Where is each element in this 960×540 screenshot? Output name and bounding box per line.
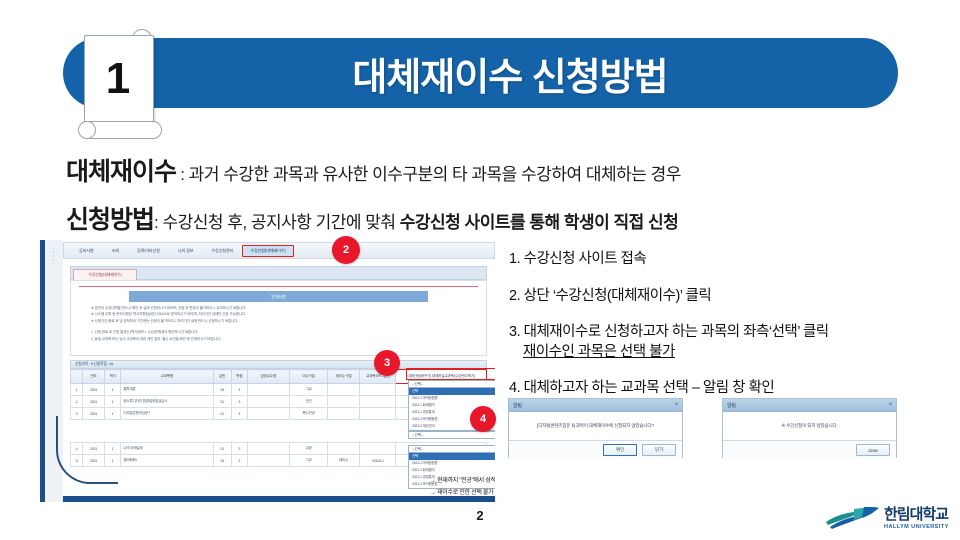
callout-curve-line [56, 416, 118, 484]
th-course-type: 이수구분 [289, 370, 327, 384]
cell-course-name: 영어회화Ⅰ [121, 455, 213, 467]
cell-professor [247, 455, 289, 467]
option-label: 2021-1 회계원리 [412, 403, 435, 408]
university-logo: 한림대학교 HALLYM UNIVERSITY [824, 506, 950, 538]
list-item: 4. 대체하고자 하는 교과목 선택 – 알림 창 확인 [509, 379, 909, 399]
cell-retake-type [328, 384, 360, 396]
tab-substitute-retake[interactable]: 수강신청(대체재이수) [73, 269, 137, 281]
nav-item-my-info[interactable]: 나의 정보 [169, 248, 203, 254]
nav-item-notice[interactable]: 공지사항 [70, 248, 103, 254]
cell-course-type: 기교 [289, 384, 327, 396]
definition-text: : 과거 수강한 과목과 유사한 이수구분의 타 과목을 수강하여 대체하는 경… [176, 165, 681, 184]
cell-credit: 3 [231, 408, 247, 420]
cell-division: 05 [213, 384, 231, 396]
cell-course-type: 전선 [289, 396, 327, 408]
cell-professor [247, 408, 289, 420]
cell-term: 1 [105, 396, 121, 408]
step-text: 4. 대체하고자 하는 교과목 선택 – 알림 창 확인 [509, 380, 774, 396]
cell-course-type: 교양 [289, 443, 327, 455]
dialog-footer: 확인 닫기 [509, 440, 682, 459]
close-icon[interactable]: × [889, 402, 892, 408]
rail-placeholder-text: ▪▪▪▪ [53, 246, 63, 262]
logo-text-block: 한림대학교 HALLYM UNIVERSITY [884, 507, 949, 531]
cell-credit: 3 [231, 396, 247, 408]
notice-line: ※ 신청기간 종료 후 및 성적처리 기간에는 신청이 불가하오니 처리기간 내… [91, 318, 472, 324]
embedded-screenshot: ▪▪▪▪ 공지사항 조회 등록/기타신청 나의 정보 수강신청관리 수강신청(대… [40, 240, 495, 502]
dropdown-option[interactable]: 선택 [409, 453, 495, 460]
substitute-dropdown-1[interactable]: --선택-- [408, 380, 495, 388]
th-credit: 학점 [231, 370, 247, 384]
dialog-message: ※ 수강신청이 되지 않았습니다. [723, 412, 896, 440]
nav-item-substitute-retake[interactable]: 수강신청(대체재이수) [242, 245, 293, 257]
cell-credit: 3 [231, 384, 247, 396]
option-label: 2021-2 조직행동론 [412, 417, 438, 422]
step-subnote: 재이수인 과목은 선택 불가 [523, 343, 909, 363]
list-item: 3. 대체재이수로 신청하고자 하는 과목의 좌측‘선택’ 클릭 재이수인 과목… [509, 323, 909, 362]
substitute-dropdown-2[interactable]: --선택-- [408, 431, 495, 439]
method-term: 신청방법 [66, 206, 154, 234]
cell-course-code [360, 443, 396, 455]
step-text: 1. 수강신청 사이트 접속 [509, 251, 646, 267]
logo-english-name: HALLYM UNIVERSITY [884, 523, 949, 531]
cell-year: 2021 [83, 396, 105, 408]
notice-panel: 안내사항 ※ 본인의 수강내역을 반드시 확인 후 실제 신청하시기 바라며, … [70, 280, 487, 356]
notice-line: 2. 동일 교과목 또는 유사 교과목이 여러 개인 경우, 필수 요건을 확인… [91, 336, 472, 342]
cell-course-name: 나의 미래설계 [121, 443, 213, 455]
th-retake-type: 재이수 구분 [328, 370, 360, 384]
cell-professor [247, 396, 289, 408]
dropdown-option[interactable]: 2021-1 마케팅원론 (전공) 3학점 [409, 395, 495, 402]
cell-division: 03 [213, 455, 231, 467]
cell-rownum: 1 [71, 384, 83, 396]
cell-retake-type [328, 396, 360, 408]
cell-credit: 3 [231, 455, 247, 467]
cell-professor [247, 384, 289, 396]
cell-course-code [360, 384, 396, 396]
substitute-dropdown-group-2: --선택-- [408, 431, 495, 439]
alert-dialog-1: 알림 × [디지털콘텐츠입문 Ⅱ] 과목이 대체재이수에 신청되지 않았습니다?… [508, 398, 683, 458]
dialog-title-text: 알림 [513, 402, 522, 409]
dropdown-option[interactable]: 2021-1 회계원리 (전공) 3학점 [409, 467, 495, 474]
definition-term: 대체재이수 [66, 158, 176, 186]
th-professor: 담당교수명 [247, 370, 289, 384]
page-number: 2 [0, 508, 960, 523]
cell-course-type: 기교 [289, 455, 327, 467]
dialog-footer: close [723, 440, 896, 459]
slide-root: 대체재이수 신청방법 1 대체재이수 : 과거 수강한 과목과 유사한 이수구분… [0, 0, 960, 540]
th-division: 분반 [213, 370, 231, 384]
method-line: 신청방법: 수강신청 후, 공지사항 기간에 맞춰 수강신청 사이트를 통해 학… [66, 200, 678, 236]
dialog-message: [디지털콘텐츠입문 Ⅱ] 과목이 대체재이수에 신청되지 않았습니다? [509, 412, 682, 440]
confirm-button[interactable]: 확인 [603, 444, 637, 456]
notice-panel-header: 안내사항 [129, 291, 428, 302]
close-button[interactable]: 닫기 [642, 444, 676, 456]
instruction-list: 1. 수강신청 사이트 접속 2. 상단 ‘수강신청(대체재이수)’ 클릭 3.… [509, 250, 909, 416]
list-item: 1. 수강신청 사이트 접속 [509, 250, 909, 270]
th-year: 년도 [83, 370, 105, 384]
option-label: 2021-1 마케팅원론 [412, 396, 438, 401]
cell-year: 2021 [83, 384, 105, 396]
nav-item-course-management[interactable]: 수강신청관리 [202, 248, 242, 254]
nav-item-inquiry[interactable]: 조회 [103, 248, 128, 254]
method-text-emphasis: 수강신청 사이트를 통해 학생이 직접 신청 [400, 213, 679, 232]
scroll-roll-bottom-cap-icon [78, 121, 96, 139]
app-tab-strip: 수강신청(대체재이수) [70, 266, 487, 280]
annotation-retake-block: → 재이수로 인한 선택 불가 [430, 487, 493, 496]
screenshot-bottom-bar [63, 496, 495, 502]
option-label: 선택 [412, 389, 418, 394]
option-label: 2021-1 회계원리 [412, 468, 435, 473]
definition-line: 대체재이수 : 과거 수강한 과목과 유사한 이수구분의 타 과목을 수강하여 … [66, 152, 681, 188]
step-text: 2. 상단 ‘수강신청(대체재이수)’ 클릭 [509, 288, 711, 304]
cell-rownum: 2 [71, 396, 83, 408]
step-text: 3. 대체재이수로 신청하고자 하는 과목의 좌측‘선택’ 클릭 [509, 324, 829, 340]
dialog-titlebar: 알림 × [509, 399, 682, 412]
close-button[interactable]: close [856, 444, 890, 456]
annotation-major-grade: → 현재까지 "전공"에서 성적이 C+이하가 없는 경우 [430, 475, 495, 484]
cell-course-type: 복수전공 [289, 408, 327, 420]
cell-retake-type: 재이수 [328, 455, 360, 467]
cell-course-name: 철학개론 [121, 384, 213, 396]
option-label: 2021-2 재무관리 [412, 424, 435, 429]
option-label: 선택 [412, 454, 418, 459]
th-course-name: 교과목명 [121, 370, 213, 384]
method-text: : 수강신청 후, 공지사항 기간에 맞춰 [154, 213, 400, 232]
option-label: 2021-1 마케팅원론 [412, 461, 438, 466]
dropdown-option[interactable]: 선택 [409, 388, 495, 395]
option-label: 2021-1 경영통계 [412, 410, 435, 415]
cell-retake-type [328, 408, 360, 420]
cell-credit: 3 [231, 443, 247, 455]
dialog-titlebar: 알림 × [723, 399, 896, 412]
alert-dialog-2: 알림 × ※ 수강신청이 되지 않았습니다. close [722, 398, 897, 458]
scroll-paper-icon: 1 [76, 29, 160, 139]
cell-term: 1 [105, 384, 121, 396]
cell-course-name: 디지털콘텐츠입문 Ⅰ [121, 408, 213, 420]
cell-division: 01 [213, 443, 231, 455]
page-title: 대체재이수 신청방법 [210, 38, 810, 108]
hallym-wave-icon [824, 506, 880, 532]
substitute-dropdown-3[interactable]: --선택-- [408, 445, 495, 453]
cell-course-code [360, 396, 396, 408]
cell-course-name: 컴스튜디자인 환경설정및실습 Ⅱ [121, 396, 213, 408]
notice-text-block: ※ 본인의 수강내역을 반드시 확인 후 실제 신청하시기 바라며, 신청 후 … [91, 305, 472, 342]
callout-badge-2: 2 [332, 236, 360, 264]
th-term: 학기 [105, 370, 121, 384]
logo-korean-name: 한림대학교 [884, 507, 949, 523]
callout-badge-4: 4 [470, 406, 496, 432]
list-item: 2. 상단 ‘수강신청(대체재이수)’ 클릭 [509, 287, 909, 307]
slide-number-badge: 1 [84, 39, 152, 119]
select-column-highlight-box [406, 368, 495, 380]
cell-professor [247, 443, 289, 455]
dropdown-option[interactable]: 2021-1 마케팅원론 (전공) 3학점 [409, 460, 495, 467]
cell-course-code: 00104-1 [360, 455, 396, 467]
panel-divider [79, 286, 478, 287]
cell-retake-type [328, 443, 360, 455]
cell-course-code [360, 408, 396, 420]
cell-division: 01 [213, 396, 231, 408]
dialog-title-text: 알림 [727, 402, 736, 409]
cell-division: 01 [213, 408, 231, 420]
nav-item-registration[interactable]: 등록/기타신청 [128, 248, 169, 254]
th-rownum [71, 370, 83, 384]
app-top-navigation: 공지사항 조회 등록/기타신청 나의 정보 수강신청관리 수강신청(대체재이수) [63, 242, 495, 259]
close-icon[interactable]: × [675, 402, 678, 408]
callout-badge-3: 3 [374, 350, 400, 376]
